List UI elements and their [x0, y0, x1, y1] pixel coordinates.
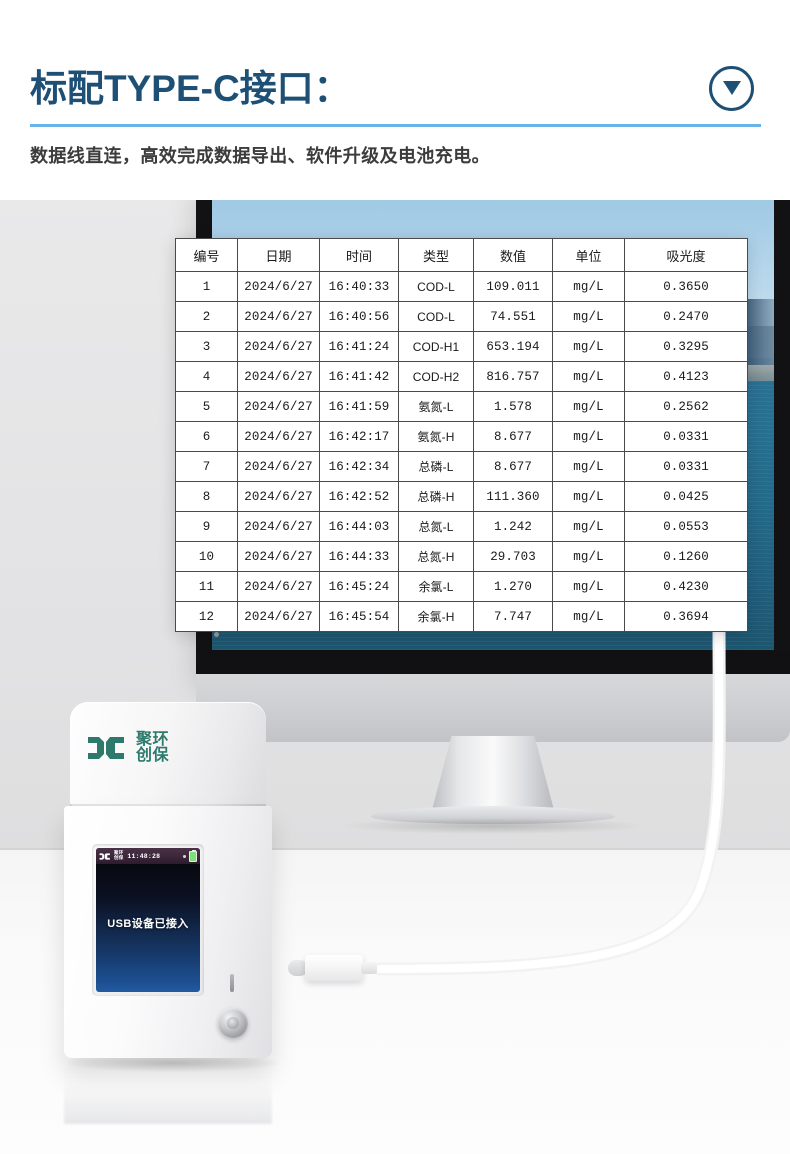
- cell-id: 4: [176, 362, 238, 392]
- table-row[interactable]: 32024/6/2716:41:24COD-H1653.194mg/L0.329…: [176, 332, 748, 362]
- cell-id: 8: [176, 482, 238, 512]
- juhuan-logo-mark-small: [99, 852, 111, 861]
- cell-date: 2024/6/27: [238, 422, 320, 452]
- cell-unit: mg/L: [553, 332, 625, 362]
- device-screen-frame: 聚环 创保 11:48:28 USB设备已接入: [92, 844, 204, 996]
- cell-value: 111.360: [474, 482, 553, 512]
- cell-unit: mg/L: [553, 542, 625, 572]
- device-brand-line2: 创保: [136, 748, 169, 764]
- cell-date: 2024/6/27: [238, 302, 320, 332]
- device-sample-knob[interactable]: [218, 1008, 248, 1038]
- water-quality-analyzer-device: 聚环 创保 聚环 创保 11:48: [58, 702, 278, 1074]
- cell-type: 余氯-L: [399, 572, 474, 602]
- cell-time: 16:41:42: [320, 362, 399, 392]
- cell-id: 12: [176, 602, 238, 632]
- cell-id: 11: [176, 572, 238, 602]
- cell-type: COD-L: [399, 302, 474, 332]
- device-reflection: [64, 1058, 272, 1124]
- cell-unit: mg/L: [553, 272, 625, 302]
- cell-id: 6: [176, 422, 238, 452]
- measurement-records-table-card: 编号 日期 时间 类型 数值 单位 吸光度 12024/6/2716:40:33…: [175, 238, 747, 632]
- cell-unit: mg/L: [553, 482, 625, 512]
- section-header: 标配TYPE-C接口： 数据线直连，高效完成数据导出、软件升级及电池充电。: [0, 0, 790, 200]
- device-brand-logo: 聚环 创保: [86, 732, 169, 765]
- cell-time: 16:44:33: [320, 542, 399, 572]
- device-brand-line1: 聚环: [136, 732, 169, 748]
- cell-absorbance: 0.2470: [625, 302, 748, 332]
- device-clock: 11:48:28: [127, 853, 160, 860]
- monitor-indicator-dot: [214, 632, 219, 637]
- device-lcd-screen[interactable]: 聚环 创保 11:48:28 USB设备已接入: [96, 848, 200, 992]
- cell-id: 9: [176, 512, 238, 542]
- table-row[interactable]: 52024/6/2716:41:59氨氮-L1.578mg/L0.2562: [176, 392, 748, 422]
- cell-unit: mg/L: [553, 362, 625, 392]
- device-brand-text: 聚环 创保: [136, 732, 169, 765]
- cell-type: 总磷-H: [399, 482, 474, 512]
- cell-date: 2024/6/27: [238, 542, 320, 572]
- section-subtitle: 数据线直连，高效完成数据导出、软件升级及电池充电。: [30, 142, 490, 168]
- cell-date: 2024/6/27: [238, 512, 320, 542]
- device-status-brand: 聚环 创保: [114, 851, 123, 860]
- cell-id: 1: [176, 272, 238, 302]
- cell-type: COD-H1: [399, 332, 474, 362]
- chevron-down-glyph: [721, 78, 743, 98]
- cell-absorbance: 0.3694: [625, 602, 748, 632]
- cell-absorbance: 0.1260: [625, 542, 748, 572]
- title-row: 标配TYPE-C接口：: [30, 58, 760, 118]
- table-header: 编号 日期 时间 类型 数值 单位 吸光度: [176, 239, 748, 272]
- cell-time: 16:45:54: [320, 602, 399, 632]
- cell-type: 总氮-H: [399, 542, 474, 572]
- cell-absorbance: 0.0331: [625, 422, 748, 452]
- table-row[interactable]: 72024/6/2716:42:34总磷-L8.677mg/L0.0331: [176, 452, 748, 482]
- device-status-brand-line2: 创保: [114, 856, 123, 861]
- monitor-base-shadow: [343, 818, 643, 834]
- column-header-unit: 单位: [553, 239, 625, 272]
- monitor-lower-housing: [196, 674, 790, 742]
- table-row[interactable]: 92024/6/2716:44:03总氮-L1.242mg/L0.0553: [176, 512, 748, 542]
- cell-value: 8.677: [474, 452, 553, 482]
- cell-value: 109.011: [474, 272, 553, 302]
- device-usb-c-port[interactable]: [230, 974, 234, 992]
- cell-unit: mg/L: [553, 512, 625, 542]
- battery-icon: [189, 851, 197, 862]
- cell-date: 2024/6/27: [238, 332, 320, 362]
- cell-time: 16:42:52: [320, 482, 399, 512]
- cell-date: 2024/6/27: [238, 392, 320, 422]
- table-row[interactable]: 122024/6/2716:45:54余氯-H7.747mg/L0.3694: [176, 602, 748, 632]
- cell-time: 16:42:34: [320, 452, 399, 482]
- cell-absorbance: 0.0553: [625, 512, 748, 542]
- table-row[interactable]: 112024/6/2716:45:24余氯-L1.270mg/L0.4230: [176, 572, 748, 602]
- cell-unit: mg/L: [553, 572, 625, 602]
- cell-absorbance: 0.0425: [625, 482, 748, 512]
- cell-id: 3: [176, 332, 238, 362]
- cell-value: 816.757: [474, 362, 553, 392]
- cell-unit: mg/L: [553, 392, 625, 422]
- cell-unit: mg/L: [553, 452, 625, 482]
- cell-absorbance: 0.3295: [625, 332, 748, 362]
- cell-date: 2024/6/27: [238, 272, 320, 302]
- table-row[interactable]: 12024/6/2716:40:33COD-L109.011mg/L0.3650: [176, 272, 748, 302]
- product-detail-page: 海滨城市风光: [0, 0, 790, 1154]
- cell-absorbance: 0.2562: [625, 392, 748, 422]
- cell-value: 29.703: [474, 542, 553, 572]
- juhuan-logo-mark: [86, 734, 128, 762]
- cell-value: 74.551: [474, 302, 553, 332]
- column-header-type: 类型: [399, 239, 474, 272]
- cell-type: 总磷-L: [399, 452, 474, 482]
- column-header-time: 时间: [320, 239, 399, 272]
- cell-type: 氨氮-L: [399, 392, 474, 422]
- cell-unit: mg/L: [553, 422, 625, 452]
- table-row[interactable]: 82024/6/2716:42:52总磷-H111.360mg/L0.0425: [176, 482, 748, 512]
- cell-type: COD-L: [399, 272, 474, 302]
- cell-id: 5: [176, 392, 238, 422]
- cell-unit: mg/L: [553, 602, 625, 632]
- cell-absorbance: 0.4123: [625, 362, 748, 392]
- cell-value: 7.747: [474, 602, 553, 632]
- table-row[interactable]: 102024/6/2716:44:33总氮-H29.703mg/L0.1260: [176, 542, 748, 572]
- monitor-stand-neck: [432, 736, 554, 810]
- table-row[interactable]: 62024/6/2716:42:17氨氮-H8.677mg/L0.0331: [176, 422, 748, 452]
- cell-date: 2024/6/27: [238, 572, 320, 602]
- device-screen-message: USB设备已接入: [96, 915, 200, 931]
- cell-absorbance: 0.0331: [625, 452, 748, 482]
- cell-id: 2: [176, 302, 238, 332]
- cell-id: 7: [176, 452, 238, 482]
- cell-value: 8.677: [474, 422, 553, 452]
- cell-type: COD-H2: [399, 362, 474, 392]
- column-header-id: 编号: [176, 239, 238, 272]
- device-connection-dot-icon: [183, 855, 186, 858]
- cell-absorbance: 0.4230: [625, 572, 748, 602]
- cell-absorbance: 0.3650: [625, 272, 748, 302]
- title-divider: [30, 124, 761, 127]
- cell-type: 氨氮-H: [399, 422, 474, 452]
- cell-time: 16:40:33: [320, 272, 399, 302]
- cell-date: 2024/6/27: [238, 362, 320, 392]
- column-header-value: 数值: [474, 239, 553, 272]
- device-status-bar: 聚环 创保 11:48:28: [96, 848, 200, 864]
- column-header-absorbance: 吸光度: [625, 239, 748, 272]
- cell-value: 1.242: [474, 512, 553, 542]
- table-header-row: 编号 日期 时间 类型 数值 单位 吸光度: [176, 239, 748, 272]
- table-body: 12024/6/2716:40:33COD-L109.011mg/L0.3650…: [176, 272, 748, 632]
- cell-date: 2024/6/27: [238, 602, 320, 632]
- cell-time: 16:45:24: [320, 572, 399, 602]
- cell-date: 2024/6/27: [238, 452, 320, 482]
- cell-time: 16:40:56: [320, 302, 399, 332]
- cell-date: 2024/6/27: [238, 482, 320, 512]
- cell-unit: mg/L: [553, 302, 625, 332]
- table-row[interactable]: 42024/6/2716:41:42COD-H2816.757mg/L0.412…: [176, 362, 748, 392]
- circle-chevron-down-icon[interactable]: [709, 66, 754, 111]
- cell-value: 653.194: [474, 332, 553, 362]
- cell-value: 1.270: [474, 572, 553, 602]
- cell-id: 10: [176, 542, 238, 572]
- cell-time: 16:42:17: [320, 422, 399, 452]
- cell-type: 余氯-H: [399, 602, 474, 632]
- cell-time: 16:41:24: [320, 332, 399, 362]
- page-title: 标配TYPE-C接口：: [30, 70, 351, 107]
- measurement-records-table: 编号 日期 时间 类型 数值 单位 吸光度 12024/6/2716:40:33…: [175, 238, 748, 632]
- cell-type: 总氮-L: [399, 512, 474, 542]
- cell-time: 16:44:03: [320, 512, 399, 542]
- cell-value: 1.578: [474, 392, 553, 422]
- column-header-date: 日期: [238, 239, 320, 272]
- cell-time: 16:41:59: [320, 392, 399, 422]
- table-row[interactable]: 22024/6/2716:40:56COD-L74.551mg/L0.2470: [176, 302, 748, 332]
